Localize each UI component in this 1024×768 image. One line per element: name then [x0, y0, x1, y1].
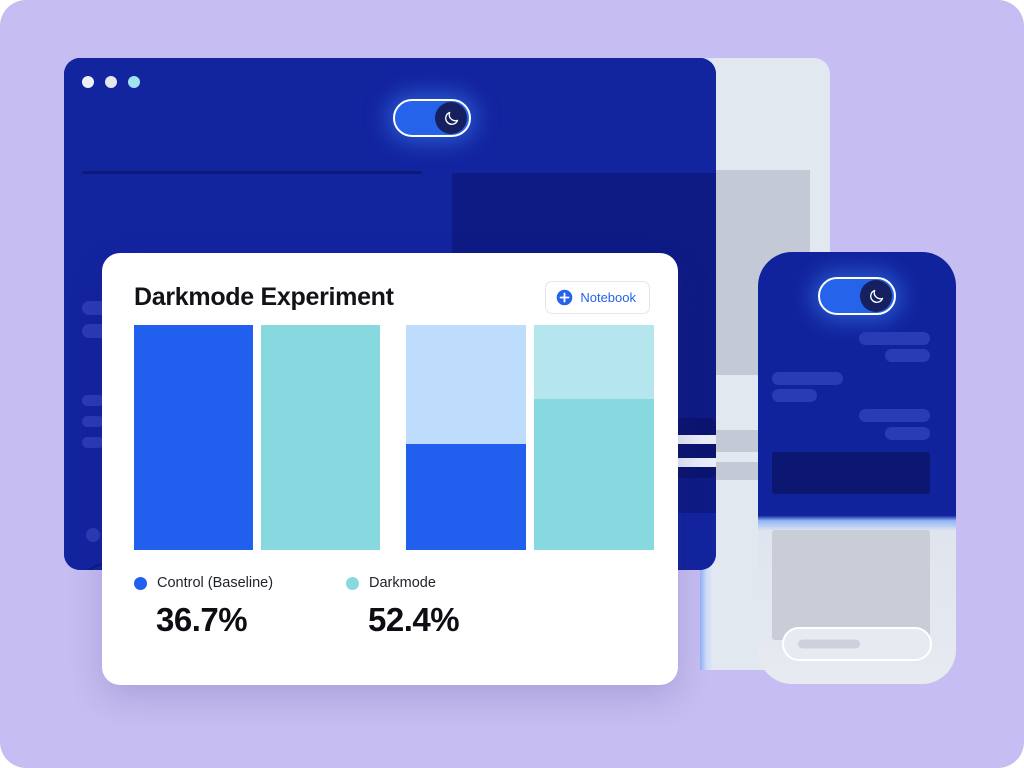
phone-skeleton-line [885, 427, 930, 440]
legend-value: 52.4% [368, 601, 558, 639]
window-dot-minimize-icon[interactable] [105, 76, 117, 88]
desktop-accent-line [676, 435, 716, 444]
page-title: Darkmode Experiment [134, 283, 394, 312]
legend-label: Control (Baseline) [157, 575, 273, 591]
bar-group-b [406, 325, 654, 550]
bar-control-group-b[interactable] [406, 325, 526, 550]
phone-search-placeholder [798, 640, 860, 649]
skeleton-line [82, 416, 104, 427]
bar-darkmode-group-b[interactable] [534, 325, 654, 550]
phone-skeleton-line [885, 349, 930, 362]
phone-lightmode-block [772, 530, 930, 640]
card-header: Darkmode Experiment Notebook [134, 277, 650, 317]
desktop-accent-line [676, 458, 716, 467]
experiment-result-card: Darkmode Experiment Notebook [102, 253, 678, 685]
phone-skeleton-line [772, 372, 843, 385]
darkmode-toggle-desktop[interactable] [393, 99, 471, 137]
screenshot-stage: Darkmode Experiment Notebook [0, 0, 1024, 768]
notebook-button-label: Notebook [580, 290, 636, 305]
phone-skeleton-line [859, 409, 930, 422]
bar-segment-remainder [534, 325, 654, 399]
toggle-knob-desktop [435, 102, 467, 134]
bar-control-group-a[interactable] [134, 325, 253, 550]
bar-segment-remainder [406, 325, 526, 444]
moon-icon [443, 110, 460, 127]
bar-group-a [134, 325, 380, 550]
darkmode-phone-mockup [758, 252, 956, 684]
skeleton-line [82, 395, 104, 406]
bar-darkmode-group-a[interactable] [261, 325, 380, 550]
sidebar-dot-icon [86, 528, 100, 542]
legend-swatch-icon [134, 577, 147, 590]
skeleton-line [82, 437, 104, 448]
phone-content-block [772, 452, 930, 494]
legend-entry-control: Control (Baseline) 36.7% [134, 575, 346, 639]
window-traffic-lights [82, 76, 140, 88]
bar-segment-fill [261, 325, 380, 550]
phone-search-bar[interactable] [782, 627, 932, 661]
legend-label: Darkmode [369, 575, 436, 591]
window-dot-maximize-icon[interactable] [128, 76, 140, 88]
experiment-bar-chart [134, 325, 654, 550]
bar-segment-fill [406, 444, 526, 550]
chart-legend: Control (Baseline) 36.7% Darkmode 52.4% [134, 575, 654, 639]
bar-segment-fill [534, 399, 654, 550]
window-dot-close-icon[interactable] [82, 76, 94, 88]
desktop-divider [82, 171, 422, 174]
toggle-knob-phone [860, 280, 892, 312]
moon-icon [868, 288, 885, 305]
notebook-button[interactable]: Notebook [545, 281, 650, 314]
legend-entry-darkmode: Darkmode 52.4% [346, 575, 558, 639]
legend-swatch-icon [346, 577, 359, 590]
phone-skeleton-line [772, 389, 817, 402]
plus-circle-icon [556, 289, 573, 306]
darkmode-toggle-phone[interactable] [818, 277, 896, 315]
legend-value: 36.7% [156, 601, 346, 639]
bar-segment-fill [134, 325, 253, 550]
phone-skeleton-line [859, 332, 930, 345]
